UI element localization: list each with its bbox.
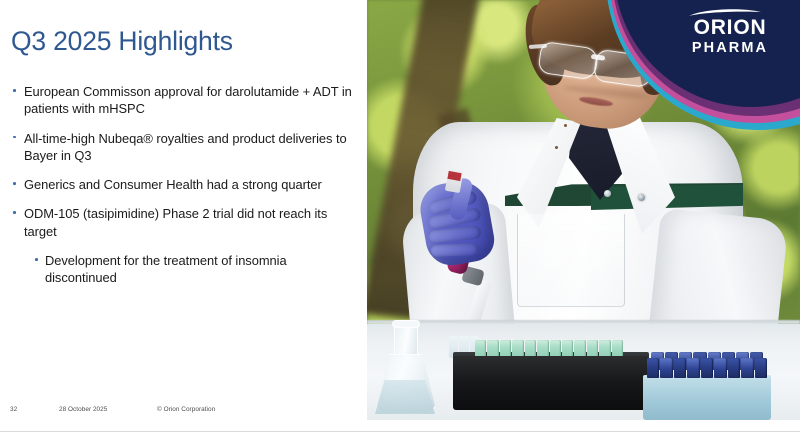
- slide-date: 28 October 2025: [59, 406, 107, 413]
- coat-snap-button: [638, 194, 645, 201]
- bullet-dot-icon: [13, 211, 16, 214]
- list-item-text: ODM-105 (tasipimidine) Phase 2 trial did…: [24, 206, 327, 238]
- list-item: ODM-105 (tasipimidine) Phase 2 trial did…: [10, 205, 358, 240]
- blue-tube: [755, 358, 767, 378]
- blue-tube: [728, 358, 740, 378]
- glove-finger: [431, 243, 479, 257]
- blue-tube: [660, 358, 672, 378]
- blue-tube: [674, 358, 686, 378]
- skin-mark: [564, 124, 567, 127]
- flask-rim: [392, 320, 420, 328]
- page-title: Q3 2025 Highlights: [11, 27, 233, 56]
- lab-bench: [367, 324, 800, 420]
- bullet-dot-icon: [13, 89, 16, 92]
- lab-coat-pocket: [517, 214, 625, 307]
- blue-tube-rack: [643, 380, 771, 420]
- goggles-lens-left: [537, 41, 599, 81]
- list-item-text: Generics and Consumer Health had a stron…: [24, 177, 322, 192]
- list-item-text: All-time-high Nubeqa® royalties and prod…: [24, 131, 347, 163]
- slide-number: 32: [10, 406, 17, 413]
- blue-tube: [687, 358, 699, 378]
- copyright-notice: © Orion Corporation: [157, 406, 215, 413]
- coat-snap-button: [604, 190, 611, 197]
- blue-tube: [714, 358, 726, 378]
- bullet-dot-icon: [13, 136, 16, 139]
- presentation-slide: Q3 2025 Highlights European Commisson ap…: [0, 0, 800, 432]
- bullet-dot-icon: [13, 182, 16, 185]
- blue-tube-group-front: [647, 358, 767, 378]
- blue-tube: [701, 358, 713, 378]
- list-item-text: Development for the treatment of insomni…: [45, 253, 287, 285]
- slide-text-column: Q3 2025 Highlights European Commisson ap…: [0, 0, 368, 432]
- laboratory-photo: [367, 0, 800, 420]
- list-item: All-time-high Nubeqa® royalties and prod…: [10, 130, 358, 165]
- flask-liquid: [375, 380, 435, 414]
- list-item: European Commisson approval for daroluta…: [10, 83, 358, 118]
- blue-tube: [647, 358, 659, 378]
- bullet-dot-icon: [35, 258, 38, 261]
- list-item: Generics and Consumer Health had a stron…: [10, 176, 358, 193]
- highlights-bullet-list: European Commisson approval for daroluta…: [10, 83, 358, 287]
- list-item-text: European Commisson approval for daroluta…: [24, 84, 352, 116]
- blue-tube: [741, 358, 753, 378]
- list-item-sub: Development for the treatment of insomni…: [32, 252, 358, 287]
- skin-mark: [555, 146, 558, 149]
- slide-footer: 32 28 October 2025 © Orion Corporation: [0, 406, 368, 420]
- black-tube-rack: [453, 356, 649, 410]
